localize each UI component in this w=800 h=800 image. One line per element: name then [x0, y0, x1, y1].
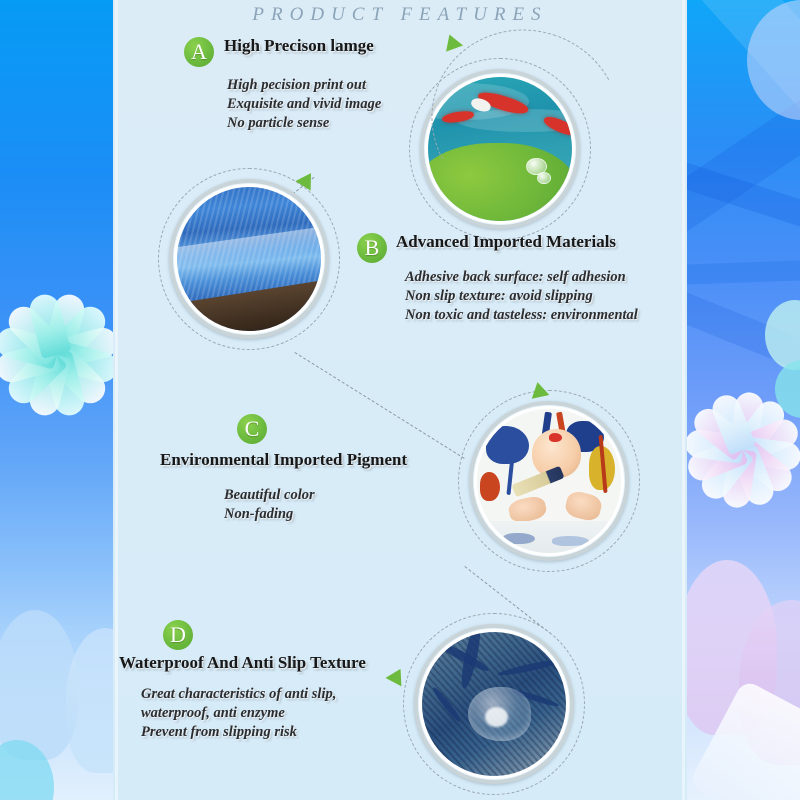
connector-line [294, 352, 464, 459]
bullet-a-1: High pecision print out [227, 76, 381, 95]
badge-c: C [237, 414, 267, 444]
left-decor-panel [0, 0, 113, 800]
feature-image-b [158, 168, 340, 350]
arrow-marker-a [441, 31, 463, 51]
product-features-infographic: PRODUCT FEATURES [0, 0, 800, 800]
bullet-a-2: Exquisite and vivid image [227, 95, 381, 114]
bullet-d-2: waterproof, anti enzyme [141, 704, 336, 723]
heading-b: Advanced Imported Materials [396, 232, 616, 252]
heading-c: Environmental Imported Pigment [160, 450, 407, 470]
bullets-b: Adhesive back surface: self adhesion Non… [405, 268, 638, 325]
bullet-d-1: Great characteristics of anti slip, [141, 685, 336, 704]
blue-textured-fabric-photo [174, 184, 324, 334]
waterproof-droplet-texture-photo [419, 629, 569, 779]
badge-a: A [184, 37, 214, 67]
bullet-b-2: Non slip texture: avoid slipping [405, 287, 638, 306]
bullets-d: Great characteristics of anti slip, wate… [141, 685, 336, 742]
baby-painting-photo [474, 406, 624, 556]
feature-image-d [403, 613, 585, 795]
bullet-b-3: Non toxic and tasteless: environmental [405, 306, 638, 325]
bullet-c-1: Beautiful color [224, 486, 315, 505]
content-panel: PRODUCT FEATURES [113, 0, 687, 800]
bullets-a: High pecision print out Exquisite and vi… [227, 76, 381, 133]
page-title: PRODUCT FEATURES [113, 4, 687, 26]
panel-seam [682, 0, 685, 800]
right-decor-panel [687, 0, 800, 800]
badge-d: D [163, 620, 193, 650]
bullet-b-1: Adhesive back surface: self adhesion [405, 268, 638, 287]
decor-shard [687, 256, 800, 287]
bullet-c-2: Non-fading [224, 505, 315, 524]
feature-image-c [458, 390, 640, 572]
heading-a: High Precison lamge [224, 36, 374, 56]
bullets-c: Beautiful color Non-fading [224, 486, 315, 524]
decor-petal [765, 300, 800, 370]
heading-d: Waterproof And Anti Slip Texture [119, 653, 366, 673]
panel-seam [115, 0, 118, 800]
bullet-d-3: Prevent from slipping risk [141, 723, 336, 742]
badge-b: B [357, 233, 387, 263]
bullet-a-3: No particle sense [227, 114, 381, 133]
